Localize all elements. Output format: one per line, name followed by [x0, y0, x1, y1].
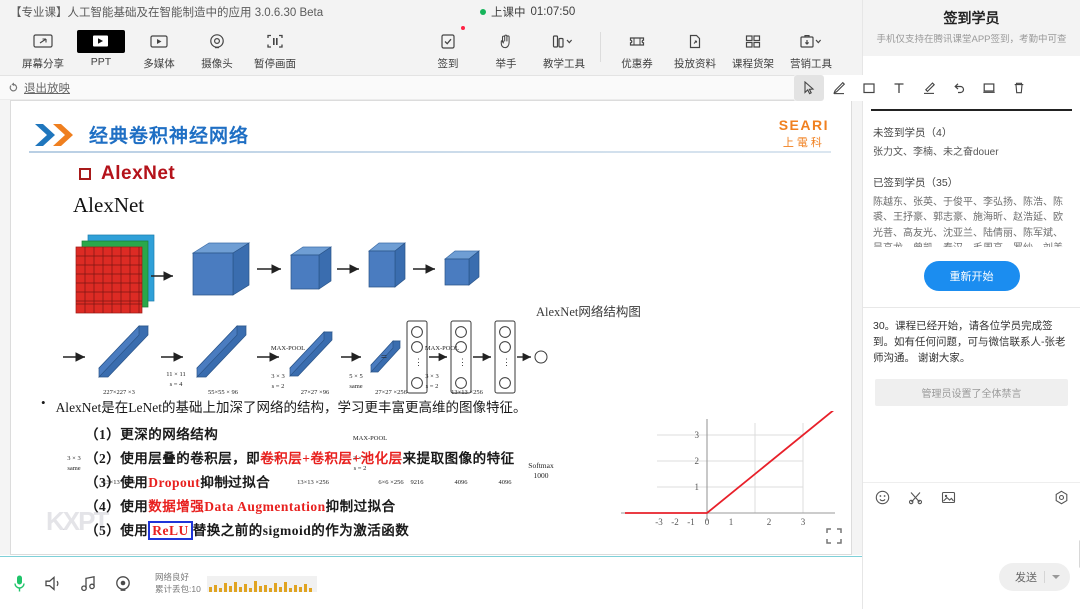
- restart-row: 重新开始: [863, 261, 1080, 291]
- seari-logo-cn: 上電科: [779, 134, 829, 150]
- tool-label: 优惠券: [621, 56, 653, 71]
- svg-text:-3: -3: [655, 517, 663, 527]
- relu-chart-svg: -3 -2 -1 0 1 2 3 1 2 3: [611, 411, 843, 546]
- diagram-label-k1: 11 × 11: [153, 371, 199, 378]
- title-divider: [29, 151, 831, 153]
- exit-presentation-row: 退出放映: [0, 76, 862, 100]
- chevron-down-icon[interactable]: [1052, 575, 1060, 579]
- bullet-number: （1）: [85, 427, 120, 442]
- slide-section-label: AlexNet: [101, 163, 175, 185]
- diagram-label-k1-stride: s = 4: [153, 381, 199, 388]
- svg-text:-1: -1: [687, 517, 695, 527]
- annotation-toolbar: [794, 75, 1034, 101]
- top-toolbar: 【专业课】人工智能基础及在智能制造中的应用 3.0.6.30 Beta 上课中 …: [0, 0, 862, 76]
- tool-camera[interactable]: 摄像头: [188, 24, 246, 71]
- svg-text:2: 2: [695, 456, 700, 466]
- diagram-label-equals: =: [377, 351, 391, 363]
- slide-title: 经典卷积神经网络: [89, 121, 249, 148]
- raise-hand-icon: [482, 30, 530, 53]
- select-tool-icon[interactable]: [794, 75, 824, 101]
- eraser-tool-icon[interactable]: [914, 75, 944, 101]
- tool-course-shelf[interactable]: 课程货架: [724, 24, 782, 71]
- network-status: 网络良好 累计丢包:10: [155, 572, 317, 595]
- teaching-tools-icon: [540, 30, 588, 53]
- bullet-text: 来提取图像的特征: [403, 451, 515, 466]
- unsigned-names: 张力文、李楠、未之奋douer: [873, 145, 1070, 161]
- bullet-text: 使用: [120, 523, 148, 538]
- bullet-number: （4）: [85, 499, 120, 514]
- settings-icon[interactable]: [1054, 490, 1069, 505]
- toolbar-row: 屏幕分享 PPT 多媒体: [0, 24, 862, 76]
- music-icon[interactable]: [80, 575, 97, 592]
- chat-divider: [863, 307, 1080, 308]
- tool-label: 投放资料: [674, 56, 716, 71]
- diagram-label-pool2: 13×13 ×256: [429, 389, 505, 396]
- app-title: 【专业课】人工智能基础及在智能制造中的应用 3.0.6.30 Beta: [10, 4, 323, 20]
- bullet-text: 抑制过拟合: [200, 475, 270, 490]
- tool-pause-frame[interactable]: 暂停画面: [246, 24, 304, 71]
- bullet-number: （5）: [85, 523, 120, 538]
- svg-text:1: 1: [695, 482, 700, 492]
- fullscreen-icon[interactable]: [825, 527, 843, 550]
- diagram-label-conv1: 55×55 × 96: [183, 389, 263, 396]
- send-label: 发送: [1015, 569, 1037, 585]
- toolbar-right-group: 签到 举手 教学工具: [419, 24, 840, 71]
- undo-tool-icon[interactable]: [944, 75, 974, 101]
- screen-share-icon: [19, 30, 67, 53]
- relu-function-chart: -3 -2 -1 0 1 2 3 1 2 3: [611, 411, 843, 546]
- bullet-text-highlight-boxed: ReLU: [148, 521, 193, 540]
- bullet-text: 更深的网络结构: [120, 427, 218, 442]
- exit-presentation-button[interactable]: 退出放映: [8, 80, 70, 96]
- live-timer: 01:07:50: [531, 6, 576, 18]
- tencent-classroom-window: 【专业课】人工智能基础及在智能制造中的应用 3.0.6.30 Beta 上课中 …: [0, 0, 1080, 609]
- tool-label: 屏幕分享: [22, 56, 64, 71]
- bullet-dot-icon: •: [41, 396, 46, 416]
- checkin-header: 签到学员 手机仅支持在腾讯课堂APP签到，考勤中可查: [863, 0, 1080, 56]
- bullet-text: 替换之前的sigmoid的作为激活函数: [193, 523, 410, 538]
- tool-label: PPT: [91, 56, 111, 68]
- checkin-badge: [461, 26, 465, 30]
- rectangle-tool-icon[interactable]: [854, 75, 884, 101]
- diagram-title: AlexNet: [73, 193, 144, 218]
- seari-logo-en: SEARI: [779, 117, 829, 133]
- tool-ppt[interactable]: PPT: [72, 24, 130, 71]
- tool-label: 签到: [438, 56, 459, 71]
- speaker-icon[interactable]: [44, 575, 63, 592]
- diagram-label-conv2: 27×27 ×256: [353, 389, 429, 396]
- tool-share-material[interactable]: 投放资料: [666, 24, 724, 71]
- tool-teaching-tools[interactable]: 教学工具: [535, 24, 593, 71]
- audio-level-meter: [207, 576, 317, 592]
- bullet-text: 使用层叠的卷积层，即: [120, 451, 260, 466]
- seari-logo: SEARI 上電科: [779, 117, 829, 150]
- unsigned-label: 未签到学员（4）: [873, 125, 1070, 140]
- diagram-label-k2: 5 × 5: [333, 373, 379, 380]
- diagram-label-input: 227×227 ×3: [79, 389, 159, 396]
- restart-checkin-button[interactable]: 重新开始: [924, 261, 1020, 291]
- microphone-icon[interactable]: [12, 574, 27, 593]
- tool-label: 举手: [496, 56, 517, 71]
- ppt-icon: [77, 30, 125, 53]
- image-icon[interactable]: [941, 490, 956, 505]
- diagram-label-mp1-kernel: 3 × 3: [255, 373, 301, 380]
- share-material-icon: [671, 30, 719, 53]
- marketing-tools-icon: [787, 30, 835, 53]
- signed-section: 已签到学员（35） 陈越东、张英、于俊平、李弘扬、陈浩、陈裘、王抒豪、郭志豪、施…: [873, 175, 1070, 247]
- tool-screen-share[interactable]: 屏幕分享: [14, 24, 72, 71]
- toolbar-left-group: 屏幕分享 PPT 多媒体: [14, 24, 304, 71]
- slide-stage: 经典卷积神经网络 SEARI 上電科 AlexNet AlexNet: [0, 100, 862, 555]
- svg-text:3: 3: [801, 517, 806, 527]
- checkin-progress-bar: [871, 109, 1072, 111]
- slide-section-heading: AlexNet: [79, 163, 175, 185]
- tool-multimedia[interactable]: 多媒体: [130, 24, 188, 71]
- tool-checkin[interactable]: 签到: [419, 24, 477, 71]
- diagram-label-pool1: 27×27 ×96: [279, 389, 351, 396]
- emoji-icon[interactable]: [875, 490, 890, 505]
- slide-title-group: 经典卷积神经网络: [33, 121, 249, 148]
- signed-names: 陈越东、张英、于俊平、李弘扬、陈浩、陈裘、王抒豪、郭志豪、施海昕、赵浩延、欧光菩…: [873, 195, 1070, 247]
- whiteboard-tool-icon[interactable]: [974, 75, 1004, 101]
- svg-text:⋮: ⋮: [502, 357, 511, 367]
- mute-notice: 管理员设置了全体禁言: [875, 379, 1068, 406]
- bullet-number: （2）: [85, 451, 120, 466]
- exit-presentation-label: 退出放映: [24, 80, 70, 96]
- camera-round-icon[interactable]: [114, 575, 132, 593]
- text-tool-icon[interactable]: [884, 75, 914, 101]
- bullet-text-highlight: Dropout: [148, 475, 200, 490]
- unsigned-section: 未签到学员（4） 张力文、李楠、未之奋douer: [873, 125, 1070, 161]
- tool-label: 教学工具: [543, 56, 585, 71]
- network-quality-label: 网络良好: [155, 572, 201, 583]
- checkin-subtitle: 手机仅支持在腾讯课堂APP签到，考勤中可查: [873, 34, 1070, 46]
- svg-text:0: 0: [705, 517, 710, 527]
- tool-raise-hand[interactable]: 举手: [477, 24, 535, 71]
- diagram-label-mp2-kernel: 3 × 3: [409, 373, 455, 380]
- presentation-slide[interactable]: 经典卷积神经网络 SEARI 上電科 AlexNet AlexNet: [10, 100, 852, 555]
- tool-label: 课程货架: [732, 56, 774, 71]
- chat-message: 30。课程已经开始，请各位学员完成签到。如有任何问题，可与微信联系人-张老师沟通…: [873, 318, 1070, 367]
- bullet-text: 使用: [120, 499, 148, 514]
- scissors-icon[interactable]: [908, 490, 923, 505]
- tool-marketing-tools[interactable]: 营销工具: [782, 24, 840, 71]
- signed-label: 已签到学员（35）: [873, 175, 1070, 190]
- checkin-icon: [424, 30, 472, 53]
- pause-frame-icon: [251, 30, 299, 53]
- bullet-text-highlight: 数据增强Data Augmentation: [148, 499, 325, 514]
- course-shelf-icon: [729, 30, 777, 53]
- svg-text:⋮: ⋮: [458, 357, 467, 367]
- tool-label: 摄像头: [201, 56, 233, 71]
- send-row: 发送: [999, 563, 1070, 591]
- double-chevron-icon: [33, 122, 79, 148]
- tool-label: 多媒体: [143, 56, 175, 71]
- title-row: 【专业课】人工智能基础及在智能制造中的应用 3.0.6.30 Beta 上课中 …: [0, 0, 862, 24]
- multimedia-icon: [135, 30, 183, 53]
- live-status: 上课中 01:07:50: [480, 4, 575, 20]
- bullet-text: 使用: [120, 475, 148, 490]
- bullet-number: （3）: [85, 475, 120, 490]
- packet-loss-label: 累计丢包:10: [155, 584, 201, 595]
- send-message-button[interactable]: 发送: [999, 563, 1070, 591]
- diagram-caption: AlexNet网络结构图: [536, 301, 641, 320]
- exit-arrow-icon: [8, 82, 20, 94]
- live-dot-icon: [480, 9, 486, 15]
- svg-text:1: 1: [729, 517, 734, 527]
- bullet-text: 抑制过拟合: [326, 499, 396, 514]
- square-bullet-icon: [79, 168, 91, 180]
- diagram-label-maxpool-2: MAX-POOL: [409, 345, 475, 352]
- coupon-icon: [613, 30, 661, 53]
- live-label: 上课中: [491, 4, 526, 20]
- chat-toolbar: [863, 482, 1080, 512]
- svg-text:⋮: ⋮: [414, 357, 423, 367]
- send-separator: [1044, 571, 1045, 583]
- svg-text:2: 2: [767, 517, 772, 527]
- bullet-main-text: AlexNet是在LeNet的基础上加深了网络的结构，学习更丰富更高维的图像特征…: [56, 396, 527, 416]
- svg-text:3: 3: [695, 430, 700, 440]
- pen-tool-icon[interactable]: [824, 75, 854, 101]
- toolbar-divider: [600, 32, 601, 62]
- camera-icon: [193, 30, 241, 53]
- checkin-title: 签到学员: [873, 8, 1070, 28]
- svg-text:-2: -2: [671, 517, 679, 527]
- tool-label: 暂停画面: [254, 56, 296, 71]
- bullet-text-highlight: 卷积层+卷积层+池化层: [260, 451, 402, 466]
- bottom-status-bar: 网络良好 累计丢包:10: [0, 556, 862, 609]
- tool-coupon[interactable]: 优惠券: [608, 24, 666, 71]
- tool-label: 营销工具: [790, 56, 832, 71]
- delete-tool-icon[interactable]: [1004, 75, 1034, 101]
- diagram-label-maxpool-1: MAX-POOL: [255, 345, 321, 352]
